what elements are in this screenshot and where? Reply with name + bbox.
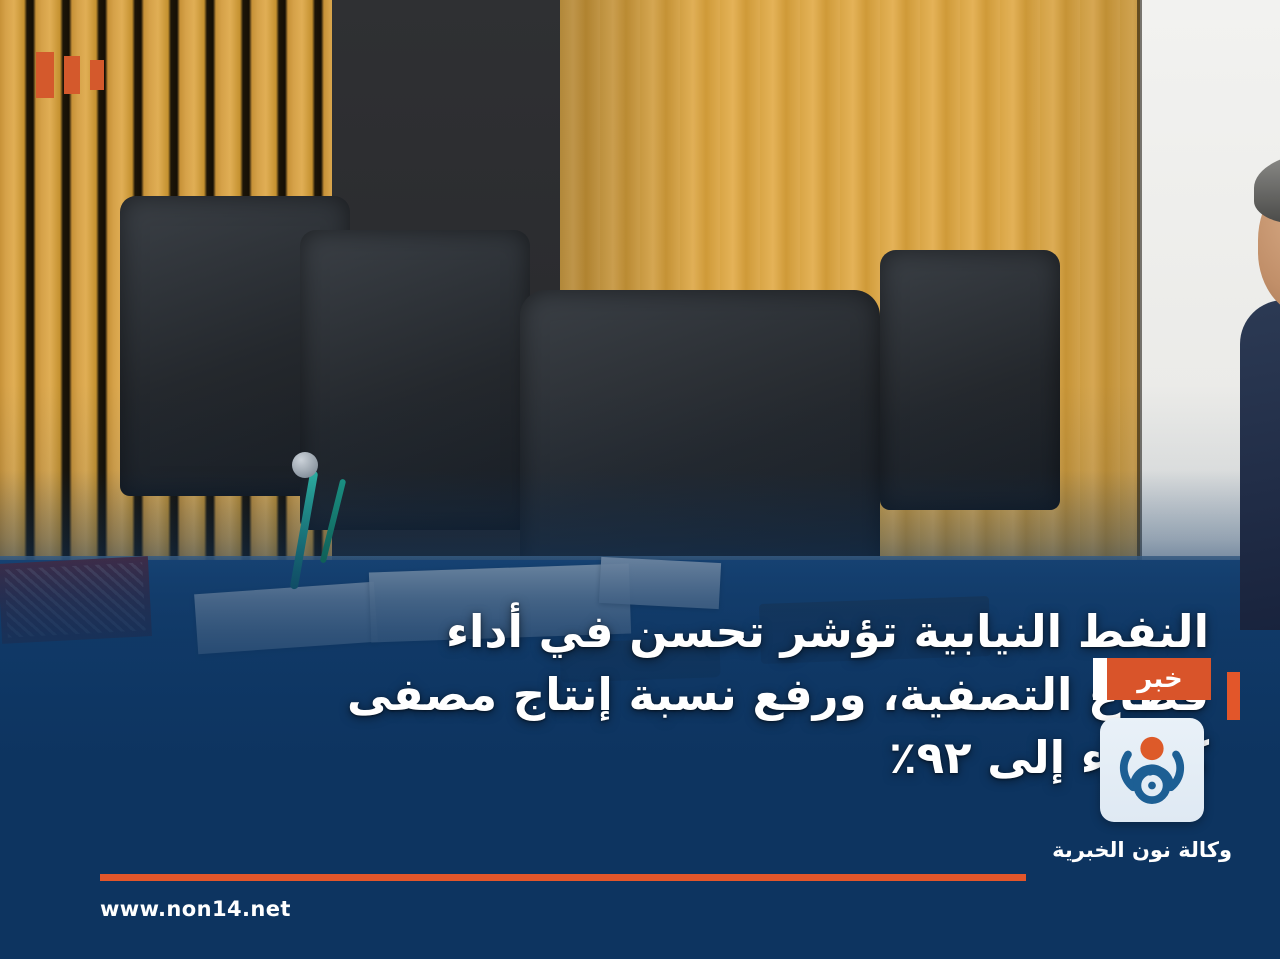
corner-mark-large bbox=[36, 52, 54, 98]
agency-name: وكالة نون الخبرية bbox=[1072, 838, 1232, 863]
corner-mark-small bbox=[90, 60, 104, 90]
footer-divider bbox=[100, 874, 1026, 881]
corner-decoration-marks bbox=[36, 52, 104, 98]
noon-agency-logo-icon bbox=[1109, 727, 1195, 813]
suit-jacket bbox=[1240, 300, 1280, 630]
news-card: النفط النيابية تؤشر تحسن في أداء قطاع ال… bbox=[0, 0, 1280, 959]
agency-logo-tile[interactable] bbox=[1100, 718, 1204, 822]
website-url[interactable]: www.non14.net bbox=[100, 897, 291, 921]
status-badge: خبر bbox=[1093, 658, 1211, 700]
headline-line-1: النفط النيابية تؤشر تحسن في أداء bbox=[347, 600, 1209, 663]
status-badge-label: خبر bbox=[1137, 666, 1183, 692]
corner-mark-medium bbox=[64, 56, 80, 94]
brand-rail: خبر وكالة نون الخبرية bbox=[1072, 658, 1232, 863]
